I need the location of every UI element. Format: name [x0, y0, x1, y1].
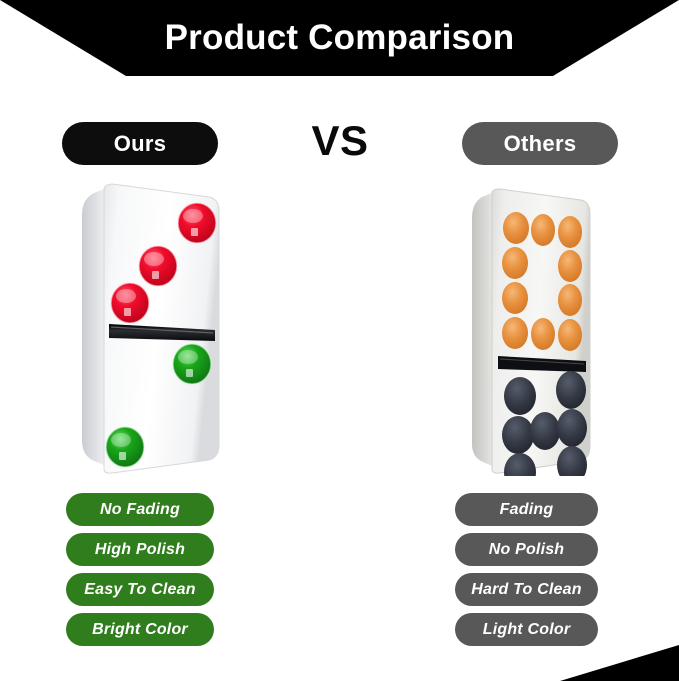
- feature-pill-others-2: Hard To Clean: [455, 573, 598, 606]
- pip-dark-3: [502, 416, 534, 454]
- column-badge-others: Others: [462, 122, 618, 165]
- pip-orange-2: [531, 214, 555, 246]
- vs-label: VS: [295, 113, 385, 169]
- domino-tile-ours-svg: [78, 183, 228, 477]
- feature-pill-ours-2: Easy To Clean: [66, 573, 214, 606]
- feature-pill-others-3: Light Color: [455, 613, 598, 646]
- pip-orange-1: [503, 212, 529, 244]
- column-badge-others-label: Others: [504, 131, 577, 157]
- pip-orange-3: [558, 216, 582, 248]
- feature-pill-others-1-label: No Polish: [489, 541, 565, 559]
- feature-pill-others-2-label: Hard To Clean: [471, 581, 581, 599]
- pip-dark-1: [504, 377, 536, 415]
- page-title: Product Comparison: [0, 16, 679, 60]
- pip-orange-7: [558, 284, 582, 316]
- feature-pill-ours-0: No Fading: [66, 493, 214, 526]
- pip-dark-5: [557, 409, 587, 447]
- pip-orange-10: [558, 319, 582, 351]
- product-photo-others: [468, 188, 598, 476]
- column-badge-ours-label: Ours: [114, 131, 167, 157]
- pip-dark-2: [556, 371, 586, 409]
- feature-pill-others-0-label: Fading: [500, 501, 554, 519]
- feature-pill-ours-3-label: Bright Color: [92, 621, 188, 639]
- domino-tile-others-svg: [468, 188, 598, 476]
- product-comparison-image: Product Comparison Ours VS Others: [0, 0, 679, 681]
- pip-orange-5: [558, 250, 582, 282]
- feature-pill-ours-1: High Polish: [66, 533, 214, 566]
- feature-pill-others-3-label: Light Color: [483, 621, 571, 639]
- feature-pill-ours-0-label: No Fading: [100, 501, 180, 519]
- pip-orange-8: [502, 317, 528, 349]
- pip-orange-9: [531, 318, 555, 350]
- pip-dark-4: [530, 412, 560, 450]
- pip-orange-6: [502, 282, 528, 314]
- feature-pill-others-1: No Polish: [455, 533, 598, 566]
- feature-pill-ours-1-label: High Polish: [95, 541, 185, 559]
- pip-orange-4: [502, 247, 528, 279]
- tile-side-edge: [82, 189, 104, 465]
- feature-pill-others-0: Fading: [455, 493, 598, 526]
- tile-side-edge: [472, 193, 492, 466]
- feature-pill-ours-3: Bright Color: [66, 613, 214, 646]
- column-badge-ours: Ours: [62, 122, 218, 165]
- product-photo-ours: [78, 183, 228, 477]
- feature-pill-ours-2-label: Easy To Clean: [84, 581, 195, 599]
